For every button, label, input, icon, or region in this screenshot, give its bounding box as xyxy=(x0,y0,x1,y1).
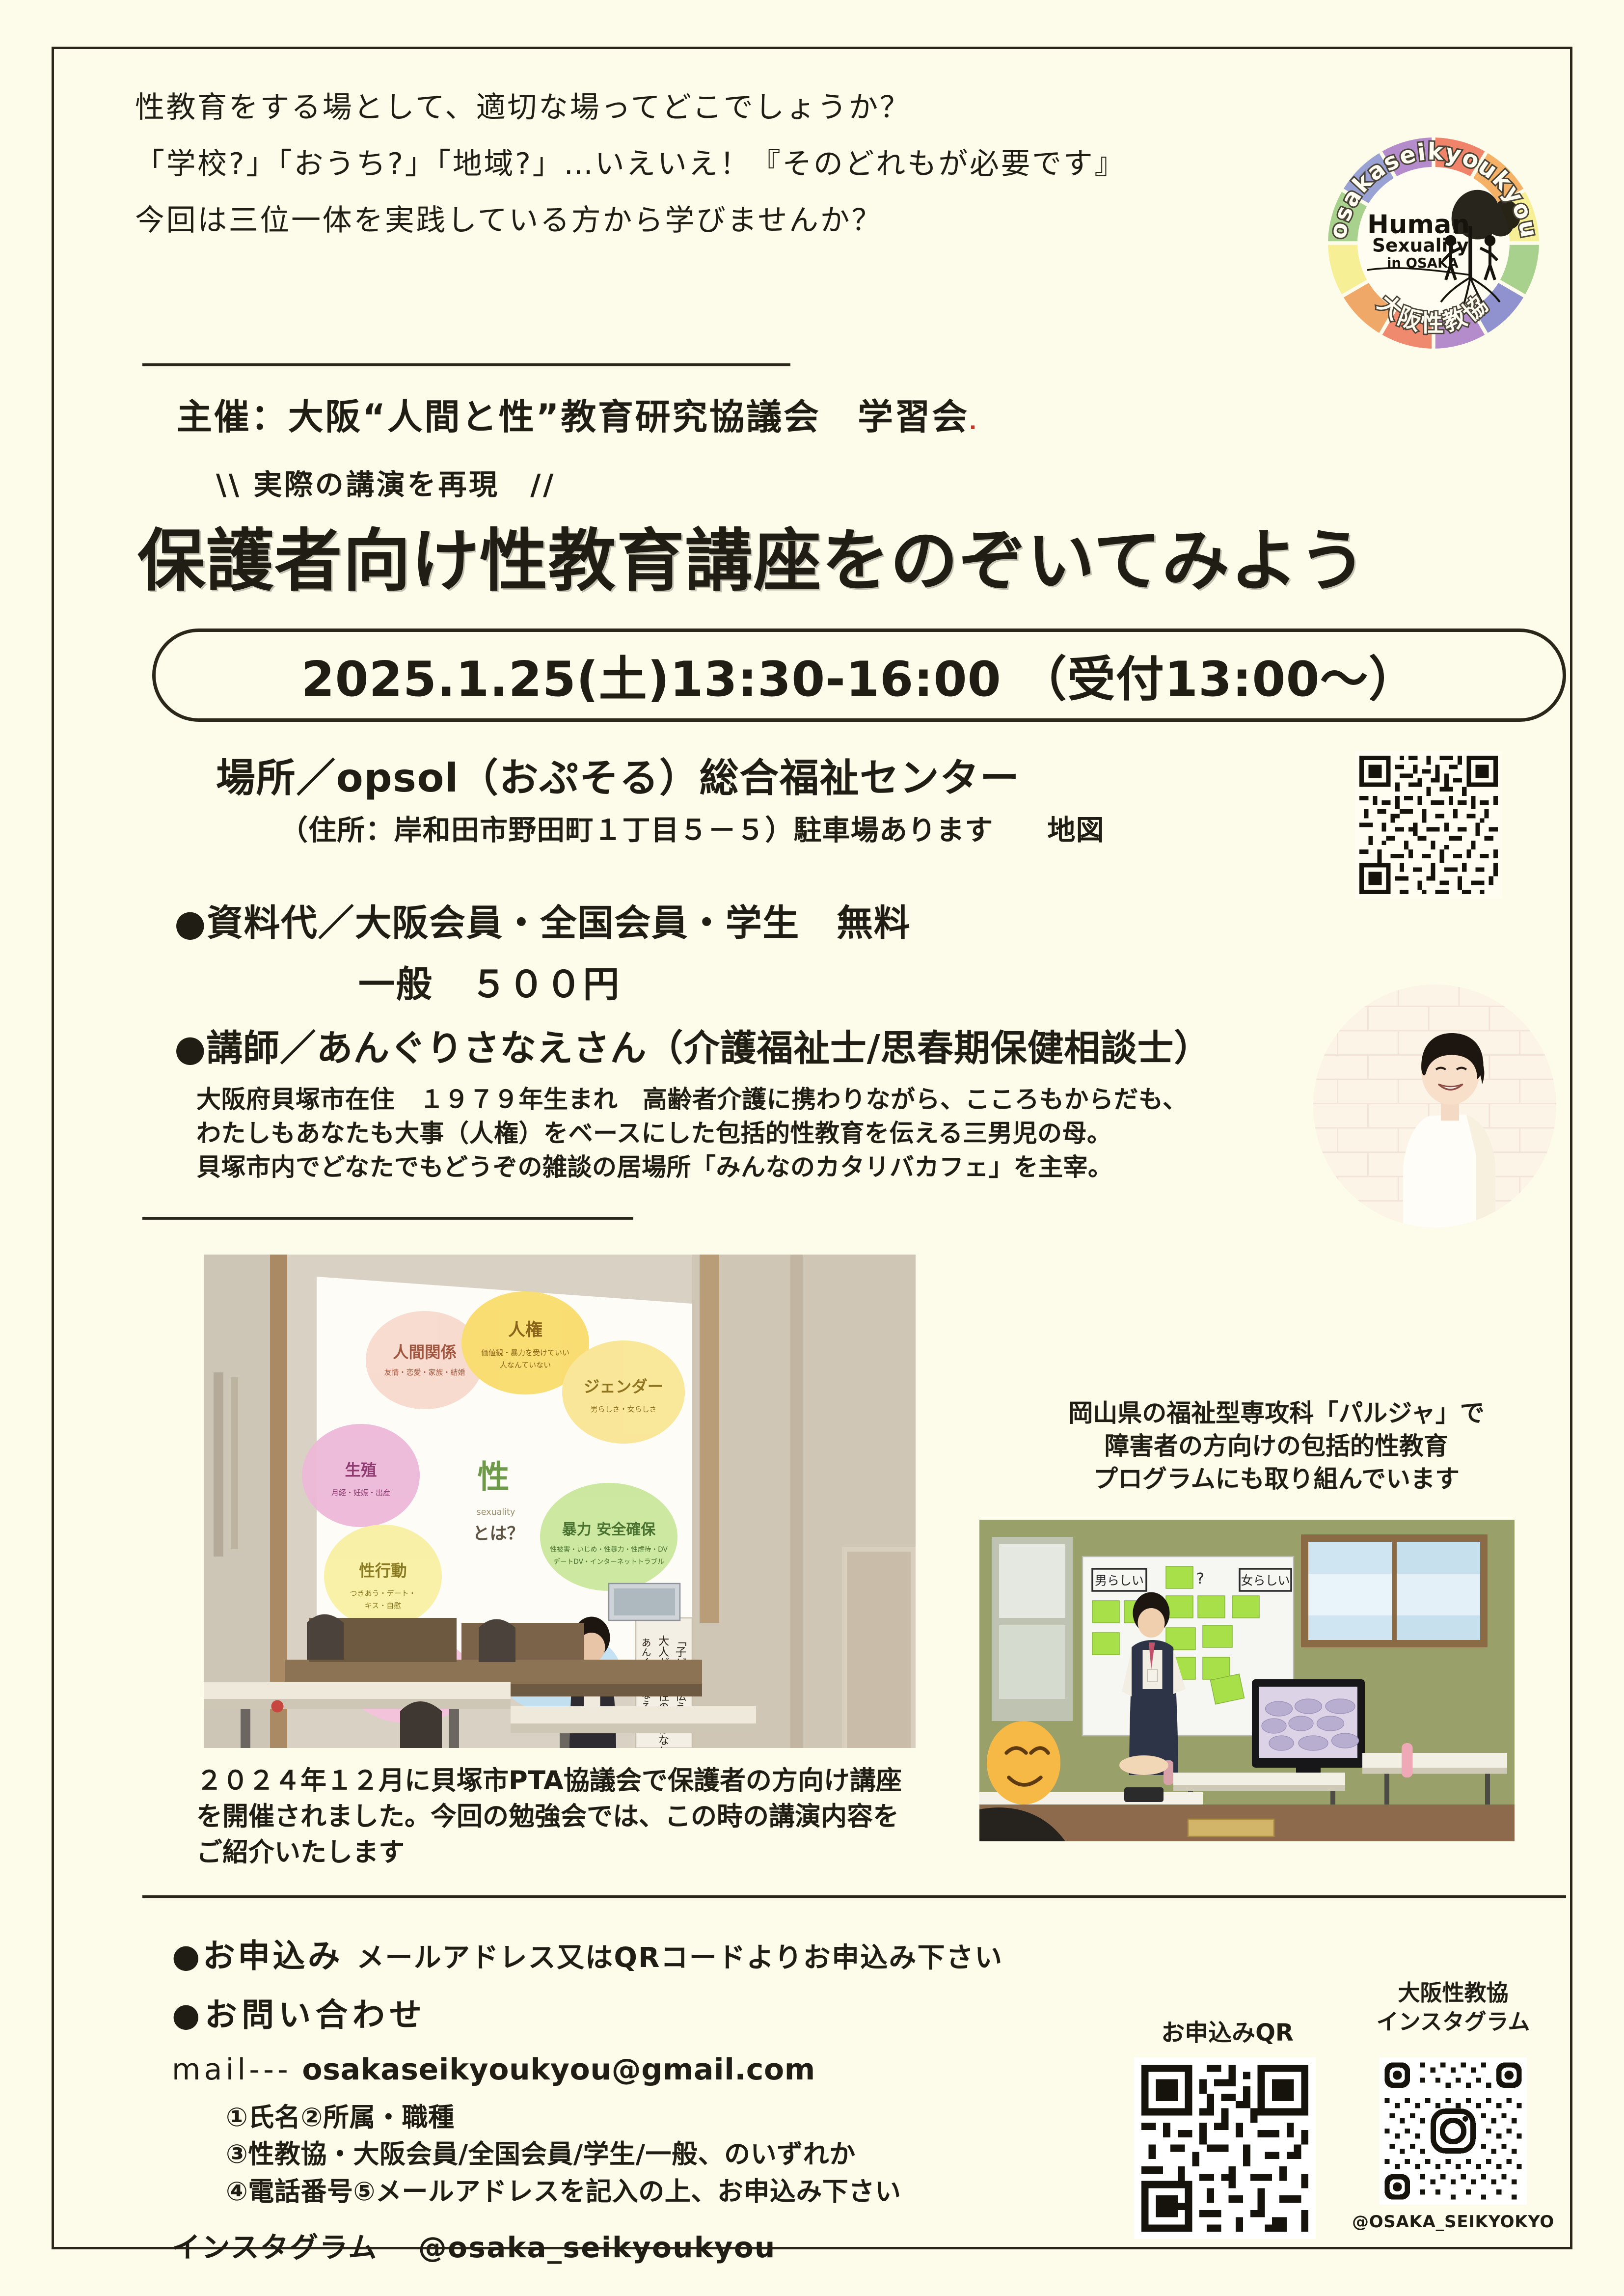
svg-text:性行動: 性行動 xyxy=(359,1561,407,1580)
map-label: 地図 xyxy=(1048,814,1105,847)
inquiry-label: ●お問い合わせ xyxy=(172,1989,426,2036)
apply-steps: ①氏名②所属・職種 ③性教協・大阪会員/全国会員/学生/一般、のいずれか ④電話… xyxy=(226,2099,901,2210)
map-qr-code[interactable] xyxy=(1330,751,1527,899)
svg-text:Sexuality: Sexuality xyxy=(1372,235,1469,256)
caption-line-2: を開催されました。今回の勉強会では、この時の講演内容を xyxy=(196,1799,992,1834)
date-time-badge: 2025.1.25(土)13:30-16:00 （受付13:00〜） xyxy=(152,629,1566,722)
bio-line-2: わたしもあなたも大事（人権）をベースにした包括的性教育を伝える三男児の母。 xyxy=(196,1117,1291,1150)
intro-line-1: 性教育をする場として、適切な場ってどこでしょうか？ xyxy=(135,83,911,126)
okayama-line-3: プログラムにも取り組んでいます xyxy=(1016,1463,1537,1496)
instagram-qr-handle: @OSAKA_SEIKYOKYO xyxy=(1350,2212,1556,2232)
svg-text:性: 性 xyxy=(477,1459,509,1496)
svg-text:つきあう・デート・: つきあう・デート・ xyxy=(350,1589,416,1598)
svg-text:in OSAKA: in OSAKA xyxy=(1387,255,1459,271)
lecturer-headline: ●講師／あんぐりさなえさん（介護福祉士/思春期保健相談士） xyxy=(174,1019,1211,1071)
fee-members-line: ●資料代／大阪会員・全国会員・学生 無料 xyxy=(174,894,911,946)
intro-line-2: 「学校?」「おうち?」「地域?」…いえいえ！『そのどれもが必要です』 xyxy=(135,140,1126,183)
svg-text:男らしさ・女らしさ: 男らしさ・女らしさ xyxy=(590,1405,656,1414)
apply-qr-code[interactable] xyxy=(1134,2057,1316,2239)
venue-title: 場所／opsol（おぷそる）総合福祉センター xyxy=(216,746,1020,803)
venue-address-line: （住所：岸和田市野田町１丁目５－５）駐車場あります地図 xyxy=(280,808,1105,848)
divider-top xyxy=(142,363,790,366)
apply-instruction: メールアドレス又はQRコードよりお申込み下さい xyxy=(356,1942,1003,1974)
divider-mid xyxy=(142,1217,633,1220)
lecturer-portrait xyxy=(1313,984,1556,1228)
instagram-handle[interactable]: @osaka_seikyoukyou xyxy=(418,2231,776,2264)
apply-bullet-label: ●お申込み xyxy=(172,1937,343,1975)
svg-text:?: ? xyxy=(1196,1570,1204,1587)
photo-caption: ２０２４年１２月に貝塚市PTA協議会で保護者の方向け講座 を開催されました。今回… xyxy=(196,1763,992,1870)
svg-text:月経・妊娠・出産: 月経・妊娠・出産 xyxy=(331,1488,390,1497)
caption-line-1: ２０２４年１２月に貝塚市PTA協議会で保護者の方向け講座 xyxy=(196,1763,992,1799)
instagram-label: インスタグラム xyxy=(172,2231,378,2264)
caption-line-3: ご紹介いたします xyxy=(196,1834,992,1870)
svg-text:人なんていない: 人なんていない xyxy=(500,1361,551,1369)
mail-address[interactable]: osakaseikyoukyou@gmail.com xyxy=(302,2052,815,2087)
board-right-label: 女らしい xyxy=(1241,1574,1290,1588)
board-left-label: 男らしい xyxy=(1095,1574,1144,1588)
okayama-line-2: 障害者の方向けの包括的性教育 xyxy=(1016,1430,1537,1463)
organizer-mark: . xyxy=(969,411,978,434)
apply-qr-label: お申込みQR xyxy=(1124,2013,1330,2048)
apply-step-3: ④電話番号⑤メールアドレスを記入の上、お申込み下さい xyxy=(226,2173,901,2210)
osaka-seikyoukyou-logo: osakaseikyoukyou Human Sexuality in OSAK… xyxy=(1311,120,1556,366)
svg-text:ジェンダー: ジェンダー xyxy=(584,1377,664,1396)
bio-line-3: 貝塚市内でどなたでもどうぞの雑談の居場所「みんなのカタリバカフェ」を主宰。 xyxy=(196,1150,1291,1184)
flyer-frame: 性教育をする場として、適切な場ってどこでしょうか？ 「学校?」「おうち?」「地域… xyxy=(52,47,1572,2249)
okayama-line-1: 岡山県の福祉型専攻科「パルジャ」で xyxy=(1016,1397,1537,1430)
apply-step-2: ③性教協・大阪会員/全国会員/学生/一般、のいずれか xyxy=(226,2136,901,2173)
organizer-line: 主催：大阪“人間と性”教育研究協議会 学習会. xyxy=(177,388,978,439)
svg-text:性被害・いじめ・性暴力・性虐待・DV: 性被害・いじめ・性暴力・性虐待・DV xyxy=(550,1546,668,1554)
replay-banner: \\ 実際の講演を再現 // xyxy=(216,462,556,503)
mail-label: mail--- xyxy=(172,2052,292,2087)
divider-bottom xyxy=(142,1895,1566,1898)
apply-line: ●お申込み メールアドレス又はQRコードよりお申込み下さい xyxy=(172,1930,1003,1977)
svg-text:人権: 人権 xyxy=(508,1320,542,1340)
lecturer-bio: 大阪府貝塚市在住 １９７９年生まれ 高齢者介護に携わりながら、こころもからだも、… xyxy=(196,1083,1291,1184)
page-title: 保護者向け性教育講座をのぞいてみよう xyxy=(137,506,1367,604)
instagram-qr-label-line-2: インスタグラム xyxy=(1350,2008,1556,2037)
svg-text:人間関係: 人間関係 xyxy=(393,1343,457,1362)
svg-text:暴力 安全確保: 暴力 安全確保 xyxy=(562,1521,656,1538)
svg-text:生殖: 生殖 xyxy=(345,1461,377,1479)
photo-lecture-hall: 人間関係 友情・恋愛・家族・結婚 人権 価値観・暴力を受けていい 人なんていない… xyxy=(204,1255,916,1748)
mail-line: mail--- osakaseikyoukyou@gmail.com xyxy=(172,2052,815,2087)
svg-text:価値観・暴力を受けていい: 価値観・暴力を受けていい xyxy=(481,1348,569,1357)
organizer-text: 主催：大阪“人間と性”教育研究協議会 学習会 xyxy=(177,396,969,437)
intro-line-3: 今回は三位一体を実践している方から学びませんか？ xyxy=(135,196,883,239)
svg-text:キス・自慰: キス・自慰 xyxy=(365,1601,402,1610)
svg-text:友情・恋愛・家族・結婚: 友情・恋愛・家族・結婚 xyxy=(384,1368,465,1377)
svg-text:とは？: とは？ xyxy=(472,1524,524,1544)
instagram-qr-label-line-1: 大阪性教協 xyxy=(1350,1979,1556,2008)
venue-address: （住所：岸和田市野田町１丁目５－５）駐車場あります xyxy=(280,814,994,847)
instagram-qr-label: 大阪性教協 インスタグラム xyxy=(1350,1979,1556,2036)
photo-classroom: 男らしい ? 女らしい xyxy=(979,1520,1515,1841)
apply-step-1: ①氏名②所属・職種 xyxy=(226,2099,901,2136)
svg-text:sexuality: sexuality xyxy=(477,1507,515,1517)
svg-text:デートDV・インターネットトラブル: デートDV・インターネットトラブル xyxy=(553,1558,664,1566)
date-time-text: 2025.1.25(土)13:30-16:00 （受付13:00〜） xyxy=(301,640,1417,710)
lecturer-qualification: さん（介護福祉士/思春期保健相談士） xyxy=(573,1027,1211,1069)
fee-general-line: 一般 ５００円 xyxy=(358,955,621,1008)
instagram-qr-code[interactable] xyxy=(1380,2057,1527,2205)
okayama-note: 岡山県の福祉型専攻科「パルジャ」で 障害者の方向けの包括的性教育 プログラムにも… xyxy=(1016,1397,1537,1496)
instagram-line: インスタグラム @osaka_seikyoukyou xyxy=(172,2224,776,2266)
bio-line-1: 大阪府貝塚市在住 １９７９年生まれ 高齢者介護に携わりながら、こころもからだも、 xyxy=(196,1083,1291,1117)
lecturer-name: ●講師／あんぐりさなえ xyxy=(174,1027,573,1069)
